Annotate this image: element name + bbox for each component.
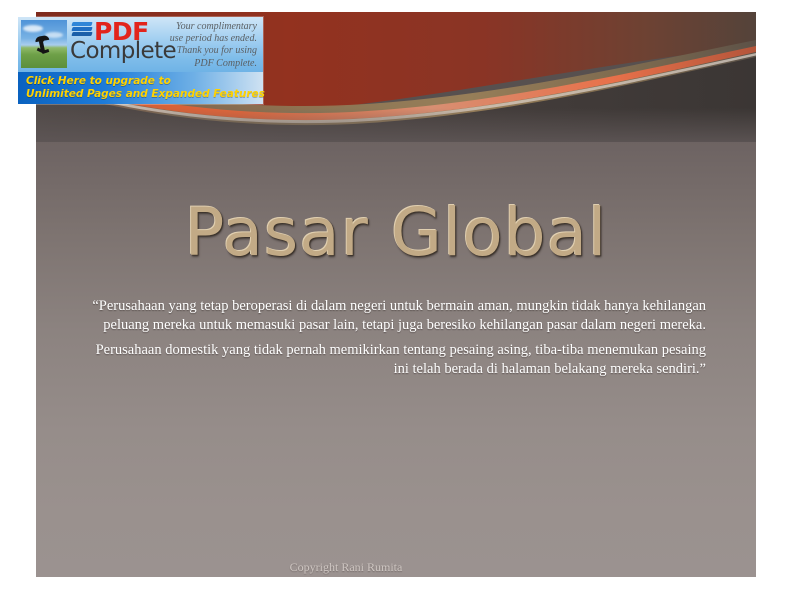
photo-thumbnail-icon — [21, 20, 67, 68]
body-paragraph-1: “Perusahaan yang tetap beroperasi di dal… — [86, 297, 706, 334]
stacked-pages-icon — [72, 22, 92, 39]
upgrade-cta-line-2: Unlimited Pages and Expanded Features — [26, 88, 263, 101]
upgrade-cta-line-1: Click Here to upgrade to — [26, 75, 263, 88]
banner-message-line-3: Thank you for using — [145, 45, 257, 57]
banner-message-line-2: use period has ended. — [145, 33, 257, 45]
body-paragraph-2: Perusahaan domestik yang tidak pernah me… — [86, 341, 706, 378]
banner-message-line-1: Your complimentary — [145, 21, 257, 33]
banner-message-line-4: PDF Complete. — [145, 58, 257, 70]
jumping-person-silhouette-icon — [34, 36, 50, 54]
slide-body-text: “Perusahaan yang tetap beroperasi di dal… — [86, 297, 706, 378]
pdf-banner-top: PDF Complete Your complimentary use peri… — [18, 17, 263, 72]
banner-expiry-message: Your complimentary use period has ended.… — [145, 21, 257, 70]
pdf-complete-banner[interactable]: PDF Complete Your complimentary use peri… — [18, 17, 263, 104]
upgrade-cta-button[interactable]: Click Here to upgrade to Unlimited Pages… — [18, 72, 263, 104]
slide-footer-copyright: Copyright Rani Rumita — [216, 560, 476, 575]
slide-title: Pasar Global — [36, 198, 756, 267]
